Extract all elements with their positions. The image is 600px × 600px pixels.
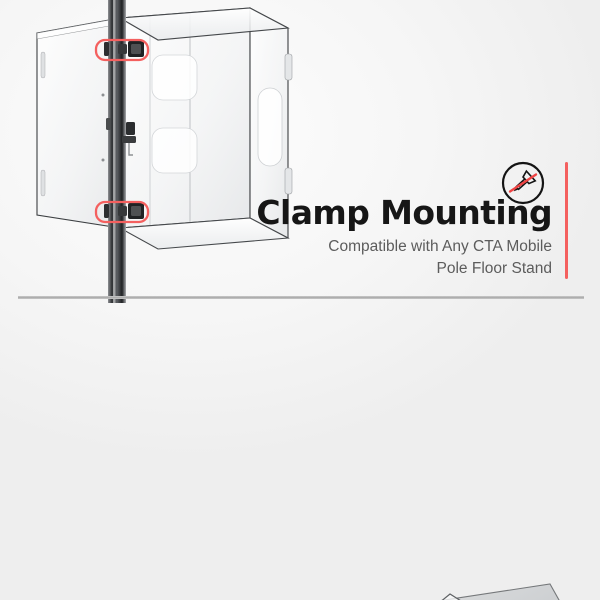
subtitle-clamp-mounting-line-2: Pole Floor Stand xyxy=(256,258,552,280)
panel-clamp-mounting: Clamp Mounting Compatible with Any CTA M… xyxy=(0,0,600,298)
subtitle-clamp-mounting-line-1: Compatible with Any CTA Mobile xyxy=(256,236,552,258)
heading-clamp-mounting: Clamp Mounting xyxy=(256,196,552,231)
text-block-clamp-mounting: Clamp Mounting Compatible with Any CTA M… xyxy=(256,196,552,280)
feature-graphic: Clamp Mounting Compatible with Any CTA M… xyxy=(0,0,600,600)
accent-bar-top xyxy=(565,162,568,279)
panel-vesa-compatible: VESA VESA Compatible Compatible with any… xyxy=(0,298,600,600)
enclosure-tilted xyxy=(286,584,595,600)
